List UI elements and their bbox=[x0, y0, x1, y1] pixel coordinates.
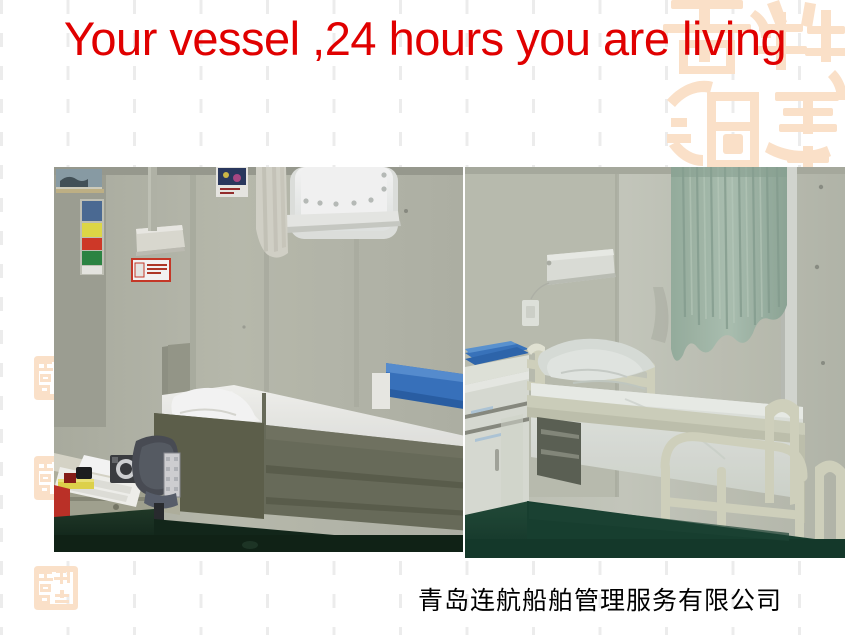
presentation-slide: Your vessel ,24 hours you are living bbox=[0, 0, 845, 635]
slide-title: Your vessel ,24 hours you are living bbox=[60, 10, 790, 68]
chinese-square-seal-watermark-icon bbox=[30, 562, 82, 614]
footer-company-name: 青岛连航船舶管理服务有限公司 bbox=[418, 585, 782, 617]
cabin-photo-right bbox=[465, 167, 845, 558]
cabin-photo-left bbox=[54, 167, 463, 552]
